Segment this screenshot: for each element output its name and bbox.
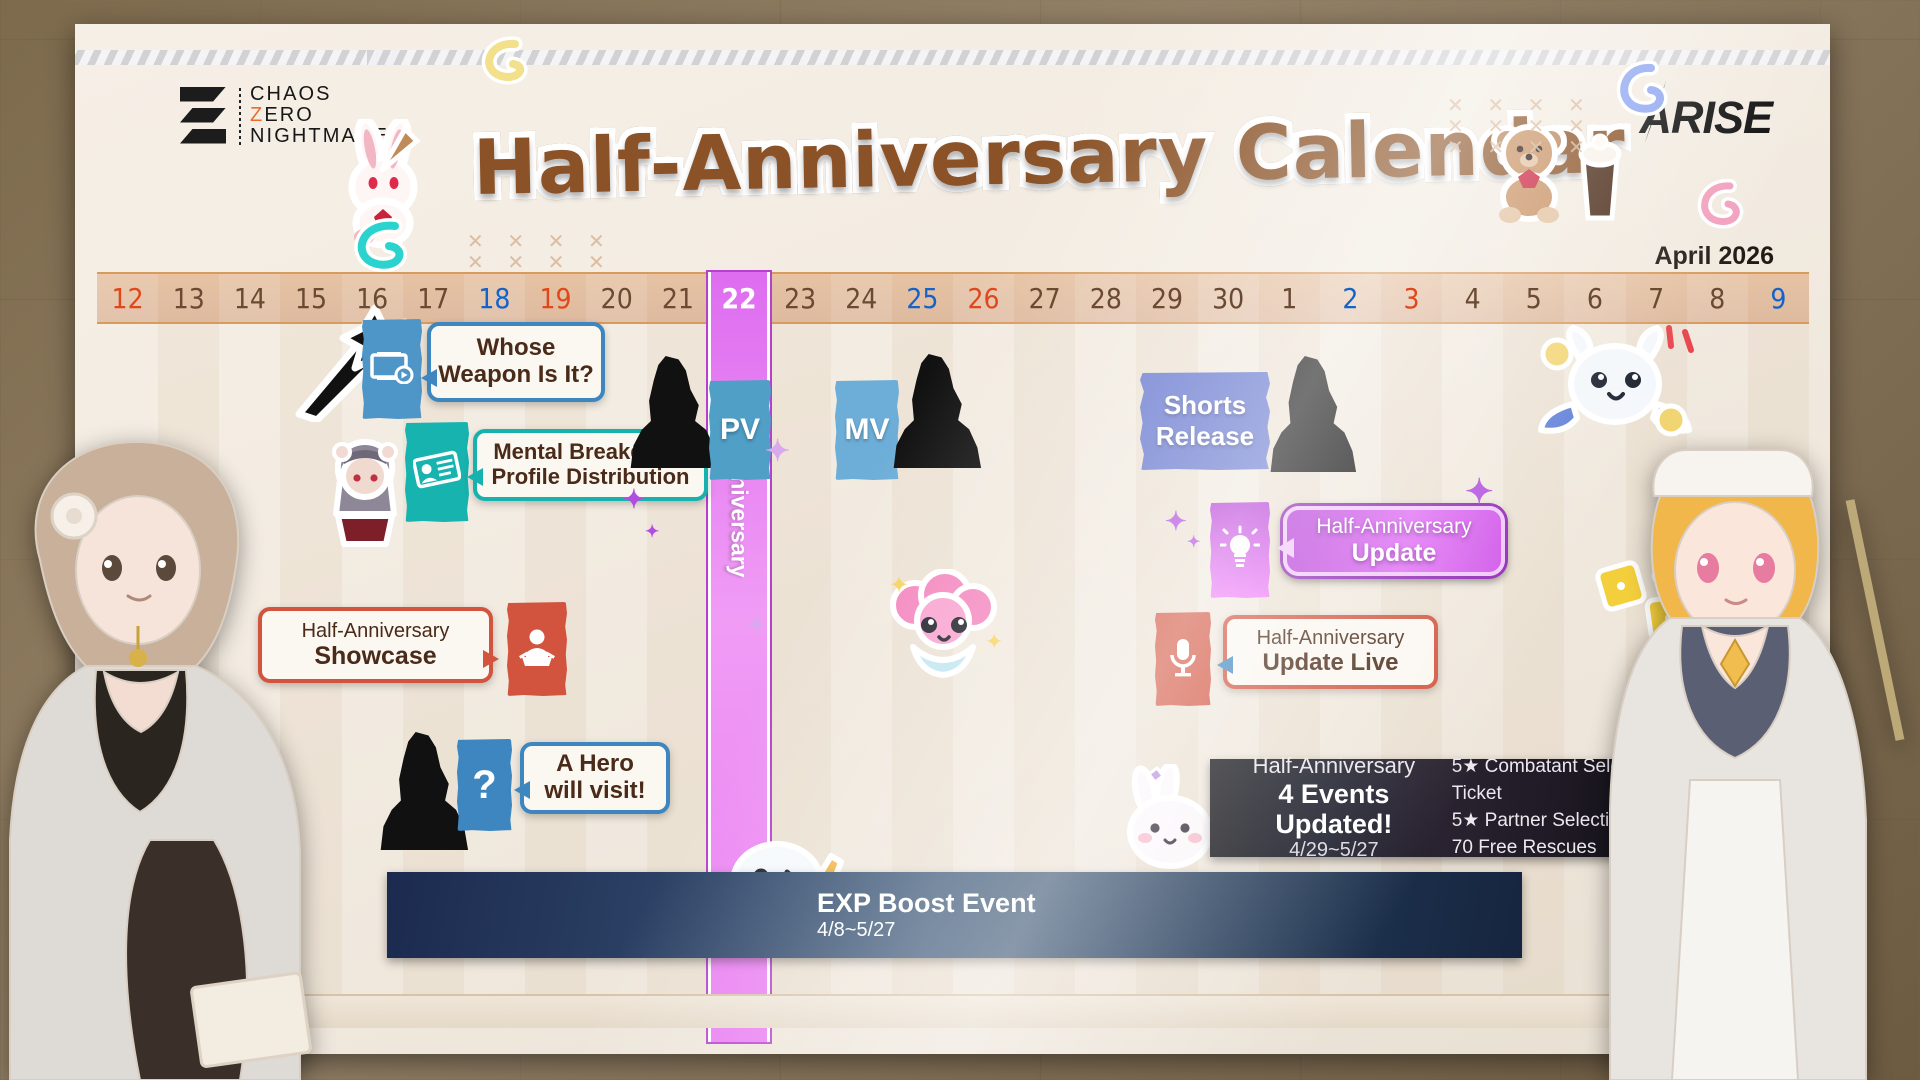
calendar-day-23[interactable]: 23	[770, 274, 831, 322]
exp-banner-dates: 4/8~5/27	[817, 919, 1522, 942]
sparkle-decor-left-col2: ✦	[645, 522, 659, 542]
calendar-board: CHAOS ZERO NIGHTMARE ARISE Half-Annivers…	[75, 24, 1830, 1054]
whose-weapon-bubble[interactable]: Whose Weapon Is It?	[427, 322, 605, 402]
calendar-day-2[interactable]: 2	[1320, 274, 1381, 322]
mv-label: MV	[845, 413, 890, 447]
sparkle-decor-update-left2: ✦	[1187, 532, 1200, 552]
film-strip-play-icon	[370, 350, 414, 389]
month-label: April 2026	[1654, 242, 1774, 271]
svg-text:✦: ✦	[985, 629, 1003, 654]
hero-visit-icon-chip[interactable]: ?	[457, 739, 512, 831]
shorts-line2: Release	[1156, 421, 1254, 452]
calendar-day-3[interactable]: 3	[1381, 274, 1442, 322]
promo-dates: 4/29~5/27	[1228, 839, 1440, 861]
washi-tape-left	[75, 50, 401, 65]
calendar-day-label: 3	[1404, 282, 1420, 315]
calendar-day-7[interactable]: 7	[1626, 274, 1687, 322]
pv-chip[interactable]: PV	[709, 380, 771, 480]
profile-card-icon	[413, 450, 461, 495]
calendar-day-label: 7	[1648, 282, 1664, 315]
exp-banner-title: EXP Boost Event	[817, 888, 1522, 919]
calendar-day-18[interactable]: 18	[464, 274, 525, 322]
mental-breakdown-line2: Profile Distribution	[492, 465, 690, 490]
x-pattern-decor-right: ✕ ✕ ✕ ✕ ✕ ✕ ✕ ✕ ✕ ✕ ✕ ✕	[1447, 96, 1594, 159]
calendar-day-9[interactable]: 9	[1748, 274, 1809, 322]
hero-visit-line1: A Hero	[556, 751, 634, 778]
calendar-day-19[interactable]: 19	[525, 274, 586, 322]
calendar-day-label: 24	[845, 282, 877, 315]
update-live-bubble[interactable]: Half-Anniversary Update Live	[1223, 615, 1438, 689]
calendar-day-6[interactable]: 6	[1564, 274, 1625, 322]
calendar-day-8[interactable]: 8	[1687, 274, 1748, 322]
calendar-day-label: 13	[173, 282, 205, 315]
blue-flying-mascot-sticker	[1535, 324, 1695, 454]
calendar-day-label: 26	[968, 282, 1000, 315]
chaos-zero-nightmare-mark-icon	[180, 85, 230, 147]
sparkle-decor-band-right: ✦	[765, 434, 790, 469]
calendar-day-20[interactable]: 20	[586, 274, 647, 322]
calendar-day-26[interactable]: 26	[953, 274, 1014, 322]
microphone-icon	[1167, 636, 1199, 683]
calendar-day-label: 25	[906, 282, 938, 315]
showcase-line1: Half-Anniversary	[302, 620, 450, 642]
shorts-release-chip[interactable]: Shorts Release	[1140, 372, 1270, 470]
party-hat-sticker	[380, 102, 450, 177]
blue-ribbon-sticker	[1603, 54, 1673, 134]
calendar-day-label: 6	[1587, 282, 1603, 315]
calendar-day-14[interactable]: 14	[219, 274, 280, 322]
pv-label: PV	[720, 413, 760, 447]
calendar-day-label: 5	[1526, 282, 1542, 315]
update-live-line1: Half-Anniversary	[1257, 627, 1405, 649]
logo-line-chaos: CHAOS	[250, 84, 389, 105]
calendar-day-label: 16	[356, 282, 388, 315]
calendar-day-label: 9	[1770, 282, 1786, 315]
bottom-bar	[97, 994, 1809, 1028]
update-icon-chip[interactable]	[1210, 502, 1270, 598]
calendar-day-label: 8	[1709, 282, 1725, 315]
calendar-day-label: 12	[112, 282, 144, 315]
calendar-day-label: 15	[295, 282, 327, 315]
update-live-line2: Update Live	[1262, 650, 1398, 677]
promo-left: Half-Anniversary 4 Events Updated! 4/29~…	[1228, 754, 1440, 861]
calendar-day-label: 22	[721, 282, 756, 315]
update-bubble[interactable]: Half-Anniversary Update	[1283, 506, 1505, 576]
mv-chip[interactable]: MV	[835, 380, 899, 480]
calendar-day-label: 23	[784, 282, 816, 315]
calendar-day-28[interactable]: 28	[1075, 274, 1136, 322]
calendar-day-label: 18	[478, 282, 510, 315]
sparkle-decor-left-col: ✦	[623, 484, 645, 515]
calendar-day-25[interactable]: 25	[892, 274, 953, 322]
update-live-icon-chip[interactable]	[1155, 612, 1211, 706]
x-pattern-decor-left: ✕ ✕ ✕ ✕ ✕ ✕ ✕ ✕	[467, 232, 614, 274]
white-bunny-cloud-mascot-sticker	[1115, 764, 1225, 874]
whose-weapon-line1: Whose	[477, 335, 556, 362]
update-line1: Half-Anniversary	[1316, 515, 1471, 539]
showcase-line2: Showcase	[314, 642, 436, 670]
lightbulb-icon	[1220, 525, 1260, 576]
logo-divider	[239, 87, 241, 145]
pink-ribbon-sticker	[1680, 174, 1752, 240]
calendar-day-29[interactable]: 29	[1136, 274, 1197, 322]
svg-text:✦: ✦	[889, 572, 909, 599]
chibi-character-sticker	[320, 436, 410, 548]
calendar-day-12[interactable]: 12	[97, 274, 158, 322]
calendar-day-label: 1	[1281, 282, 1297, 315]
calendar-day-5[interactable]: 5	[1503, 274, 1564, 322]
calendar-day-27[interactable]: 27	[1014, 274, 1075, 322]
calendar-day-21[interactable]: 21	[647, 274, 708, 322]
calendar-day-label: 17	[417, 282, 449, 315]
shorts-line1: Shorts	[1164, 390, 1246, 421]
calendar-day-label: 27	[1029, 282, 1061, 315]
calendar-day-label: 4	[1465, 282, 1481, 315]
calendar-day-label: 30	[1212, 282, 1244, 315]
calendar-day-label: 19	[540, 282, 572, 315]
calendar-day-label: 28	[1090, 282, 1122, 315]
calendar-day-24[interactable]: 24	[831, 274, 892, 322]
calendar-day-label: 2	[1342, 282, 1358, 315]
pink-cloud-mascot-sticker: ✦✦	[875, 569, 1010, 689]
calendar-day-1[interactable]: 1	[1259, 274, 1320, 322]
exp-boost-banner[interactable]: EXP Boost Event 4/8~5/27	[387, 872, 1522, 958]
character-art-left	[0, 420, 320, 1080]
calendar-day-label: 29	[1151, 282, 1183, 315]
calendar-day-13[interactable]: 13	[158, 274, 219, 322]
question-mark-icon: ?	[472, 763, 496, 808]
update-line2: Update	[1352, 539, 1437, 567]
promo-headline: 4 Events Updated!	[1228, 779, 1440, 839]
whose-weapon-line2: Weapon Is It?	[438, 362, 594, 389]
calendar-day-4[interactable]: 4	[1442, 274, 1503, 322]
hero-visit-bubble[interactable]: A Hero will visit!	[520, 742, 670, 814]
character-art-right	[1590, 440, 1920, 1080]
showcase-icon-chip[interactable]	[507, 602, 567, 696]
calendar-day-30[interactable]: 30	[1198, 274, 1259, 322]
promo-title: Half-Anniversary	[1228, 754, 1440, 779]
calendar-day-label: 21	[662, 282, 694, 315]
calendar-day-label: 20	[601, 282, 633, 315]
calendar-day-label: 14	[234, 282, 266, 315]
podium-speaker-icon	[516, 627, 558, 672]
sparkle-decor-update-right: ✦	[1465, 472, 1494, 512]
yellow-ribbon-sticker	[467, 36, 542, 98]
sparkle-decor-update-left: ✦	[1165, 506, 1187, 537]
sparkle-decor-band-right2: ✦	[747, 612, 765, 638]
hero-visit-line2: will visit!	[544, 778, 645, 805]
